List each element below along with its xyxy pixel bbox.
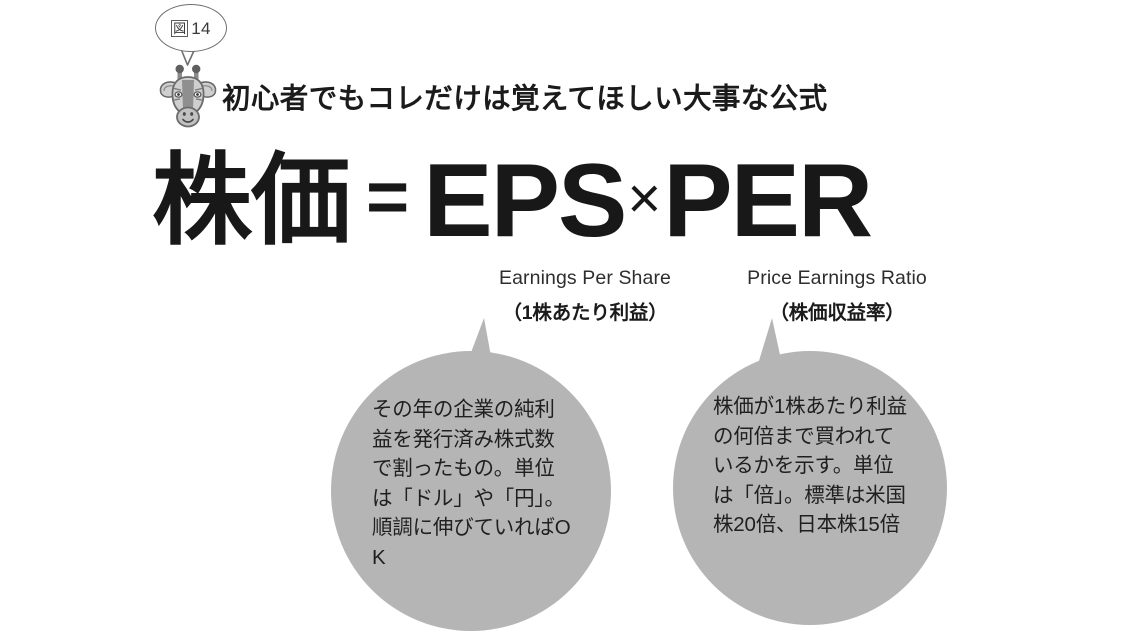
figure-badge-content: 図 14 bbox=[171, 20, 211, 37]
caption-eps-english: Earnings Per Share bbox=[455, 265, 715, 291]
bubble-eps-text: その年の企業の純利益を発行済み株式数で割ったもの。単位は「ドル」や「円」。順調に… bbox=[372, 395, 572, 572]
figure-number-badge: 図 14 bbox=[155, 4, 227, 52]
formula-multiply-sign: × bbox=[627, 170, 661, 228]
headline-text: 初心者でもコレだけは覚えてほしい大事な公式 bbox=[222, 82, 827, 116]
figure-number: 14 bbox=[191, 20, 211, 37]
formula-equals-sign: = bbox=[366, 160, 409, 234]
caption-per: Price Earnings Ratio （株価収益率） bbox=[707, 265, 967, 327]
figure-symbol: 図 bbox=[171, 20, 188, 37]
formula-left-term: 株価 bbox=[152, 151, 350, 251]
caption-per-japanese: （株価収益率） bbox=[707, 300, 967, 326]
giraffe-head-icon bbox=[158, 64, 218, 130]
formula-term-eps: EPS bbox=[423, 149, 625, 253]
formula-term-per: PER bbox=[663, 149, 871, 253]
bubble-per-text: 株価が1株あたり利益の何倍まで買われているかを示す。単位は「倍」。標準は米国株2… bbox=[713, 392, 911, 540]
main-formula: 株価 = EPS × PER bbox=[152, 146, 871, 256]
caption-per-english: Price Earnings Ratio bbox=[707, 265, 967, 291]
figure-canvas: 図 14 初心 bbox=[0, 0, 1136, 640]
